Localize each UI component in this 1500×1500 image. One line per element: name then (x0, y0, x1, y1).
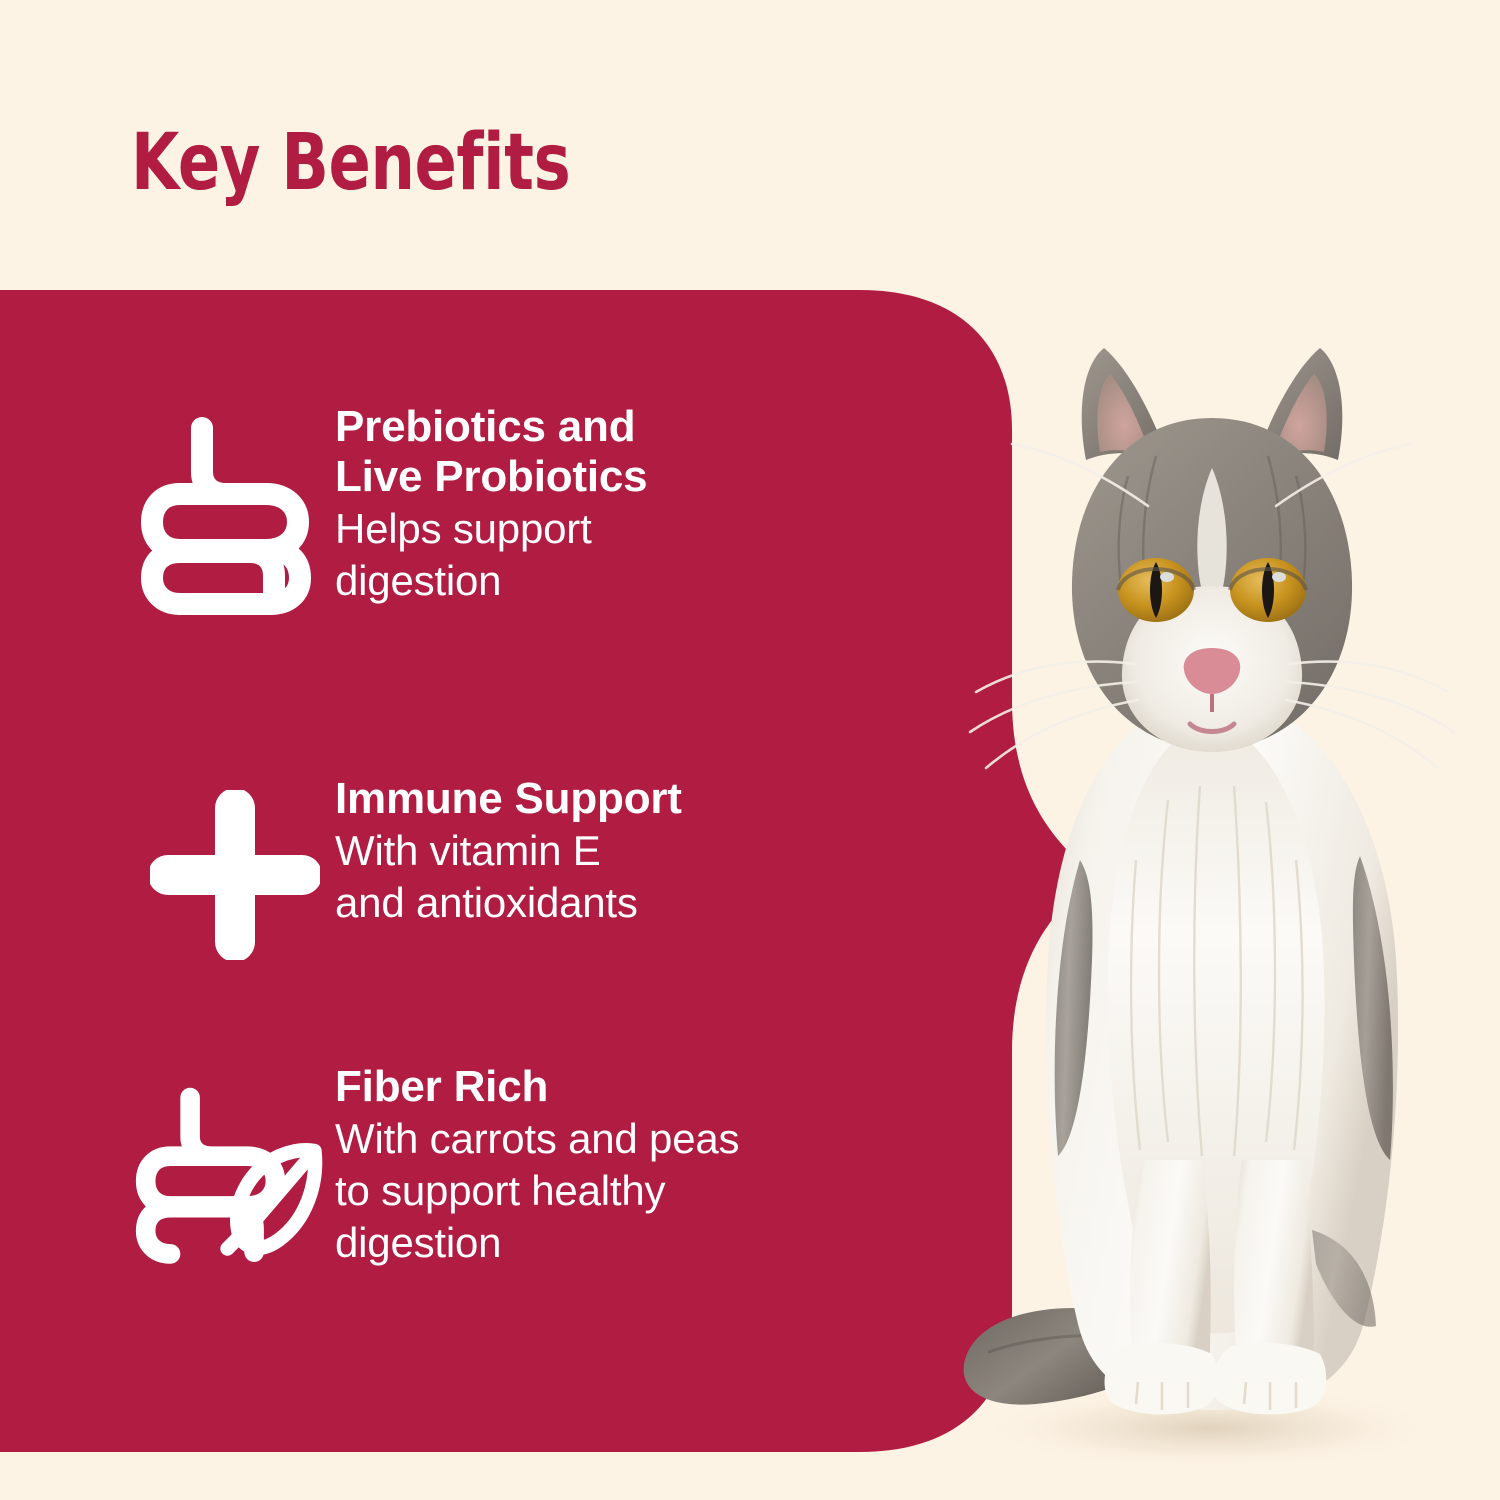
benefit-heading: Fiber Rich (335, 1062, 835, 1112)
benefit-body: With carrots and peas to support healthy… (335, 1113, 835, 1269)
benefit-heading: Prebiotics and Live Probiotics (335, 402, 775, 502)
plus-icon (135, 772, 335, 960)
benefit-item-fiber: Fiber Rich With carrots and peas to supp… (135, 1060, 835, 1281)
infographic-canvas: Key Benefits (0, 0, 1500, 1500)
benefit-heading: Immune Support (335, 774, 775, 824)
benefit-text: Immune Support With vitamin E and antiox… (335, 772, 775, 929)
benefit-text: Prebiotics and Live Probiotics Helps sup… (335, 400, 775, 607)
benefit-item-prebiotics: Prebiotics and Live Probiotics Helps sup… (135, 400, 775, 621)
intestine-leaf-icon (135, 1060, 335, 1281)
intestine-icon (135, 400, 335, 621)
cat-eye-left (1118, 558, 1194, 622)
benefits-list: Prebiotics and Live Probiotics Helps sup… (0, 0, 1010, 1500)
benefit-body: With vitamin E and antioxidants (335, 825, 775, 929)
benefit-body: Helps support digestion (335, 503, 775, 607)
benefit-item-immune: Immune Support With vitamin E and antiox… (135, 772, 775, 960)
cat-photo (960, 300, 1500, 1500)
cat-eye-right (1230, 558, 1306, 622)
benefit-text: Fiber Rich With carrots and peas to supp… (335, 1060, 835, 1269)
